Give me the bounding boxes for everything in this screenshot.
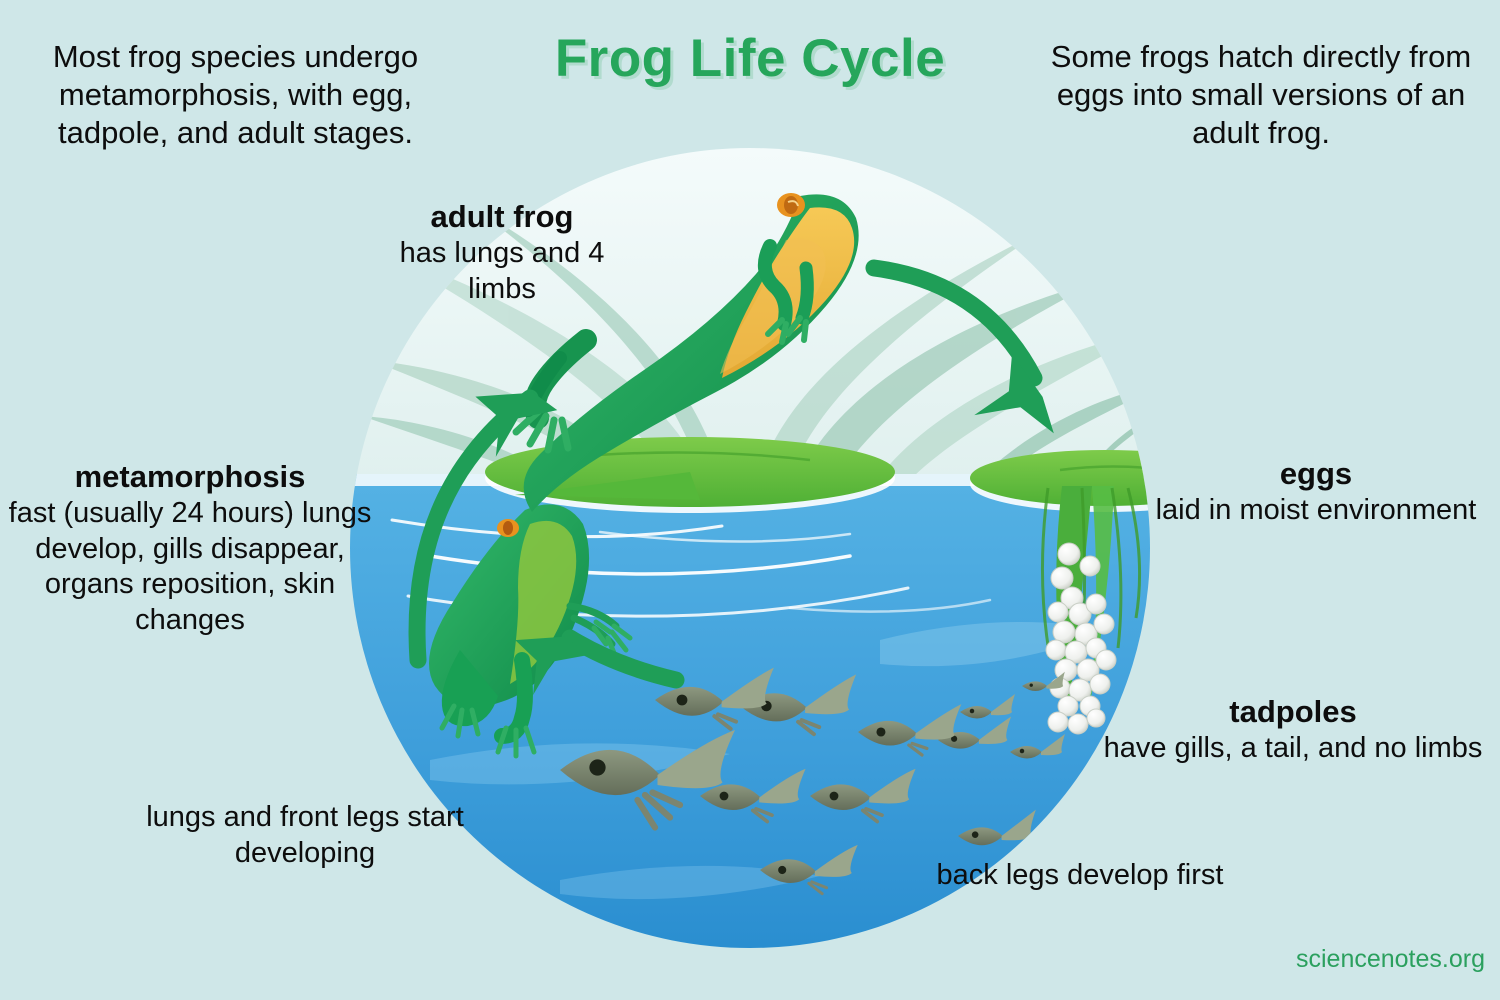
- label-metamorphosis-heading: metamorphosis: [8, 458, 372, 496]
- label-metamorphosis: metamorphosis fast (usually 24 hours) lu…: [8, 458, 372, 639]
- label-metamorphosis-body: fast (usually 24 hours) lungs develop, g…: [9, 497, 372, 636]
- label-eggs-body: laid in moist environment: [1156, 494, 1477, 526]
- page-title: Frog Life Cycle: [470, 28, 1030, 89]
- note-back-legs: back legs develop first: [930, 858, 1230, 894]
- note-front-legs: lungs and front legs start developing: [105, 800, 505, 871]
- label-tadpoles-body: have gills, a tail, and no limbs: [1104, 732, 1483, 764]
- label-tadpoles-heading: tadpoles: [1095, 693, 1491, 731]
- infographic-canvas: Most frog species undergo metamorphosis,…: [0, 0, 1500, 1000]
- label-adult-frog-heading: adult frog: [362, 198, 642, 236]
- caption-left: Most frog species undergo metamorphosis,…: [8, 38, 463, 152]
- label-eggs-heading: eggs: [1140, 455, 1492, 493]
- caption-right: Some frogs hatch directly from eggs into…: [1030, 38, 1492, 152]
- label-eggs: eggs laid in moist environment: [1140, 455, 1492, 529]
- watermark-sciencenotes: sciencenotes.org: [1155, 945, 1485, 974]
- label-adult-frog: adult frog has lungs and 4 limbs: [362, 198, 642, 307]
- label-adult-frog-body: has lungs and 4 limbs: [400, 237, 605, 305]
- label-tadpoles: tadpoles have gills, a tail, and no limb…: [1095, 693, 1491, 767]
